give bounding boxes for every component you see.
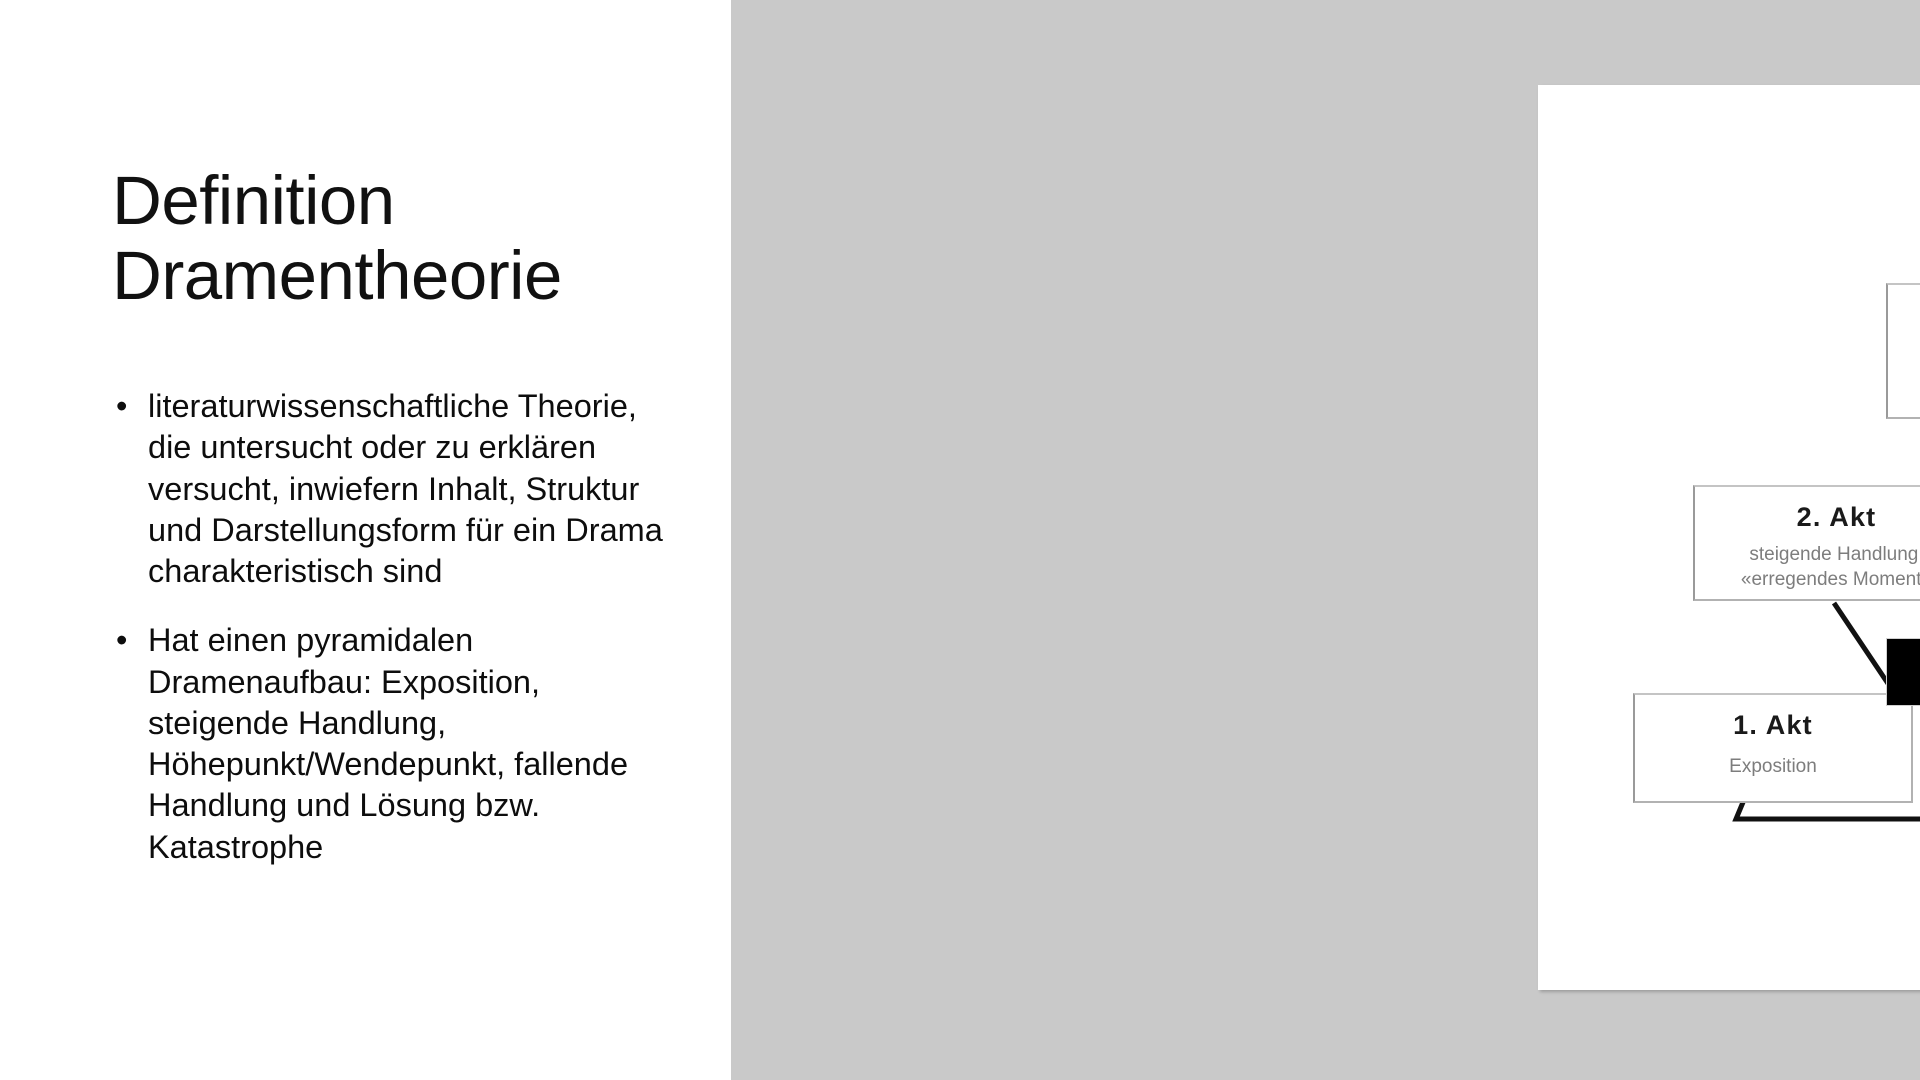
diagram-box-title: 3. Akt <box>1888 299 1920 331</box>
bullet-list: • literaturwissenschaftliche Theorie, di… <box>108 386 668 896</box>
diagram-box-subtitle: Exposition <box>1635 755 1911 780</box>
diagram-box-subtitle-line1: steigende Handlung, <box>1705 543 1920 568</box>
bullet-marker: • <box>116 620 127 661</box>
list-item: • literaturwissenschaftliche Theorie, di… <box>108 386 668 592</box>
diagram-center-label: Pyramidale Struktur des Dramas <box>1886 638 1920 706</box>
text-column: Definition Dramentheorie • literaturwiss… <box>0 0 731 1080</box>
pyramid-diagram: 3. Akt Höhepunkt, Wendepunkt 2. Akt stei… <box>1538 85 1920 990</box>
diagram-box-akt3: 3. Akt Höhepunkt, Wendepunkt <box>1886 283 1920 419</box>
diagram-box-subtitle-line2: «erregendes Moment» <box>1705 568 1920 593</box>
bullet-marker: • <box>116 386 127 427</box>
list-item-text: literaturwissenschaftliche Theorie, die … <box>148 388 663 589</box>
list-item-text: Hat einen pyramidalen Dramenaufbau: Expo… <box>148 622 628 864</box>
diagram-box-akt2: 2. Akt steigende Handlung, «erregendes M… <box>1693 485 1920 601</box>
diagram-box-title: 1. Akt <box>1635 709 1911 741</box>
diagram-image-card: 3. Akt Höhepunkt, Wendepunkt 2. Akt stei… <box>1538 85 1920 990</box>
image-panel: 3. Akt Höhepunkt, Wendepunkt 2. Akt stei… <box>731 0 1920 1080</box>
diagram-box-akt1: 1. Akt Exposition <box>1633 693 1913 803</box>
page-title: Definition Dramentheorie <box>112 164 672 313</box>
diagram-box-subtitle: steigende Handlung, «erregendes Moment» <box>1695 543 1920 592</box>
slide-canvas: Definition Dramentheorie • literaturwiss… <box>0 0 1920 1080</box>
diagram-box-title: 2. Akt <box>1695 501 1920 533</box>
diagram-box-subtitle: Höhepunkt, Wendepunkt <box>1888 343 1920 368</box>
list-item: • Hat einen pyramidalen Dramenaufbau: Ex… <box>108 620 668 868</box>
